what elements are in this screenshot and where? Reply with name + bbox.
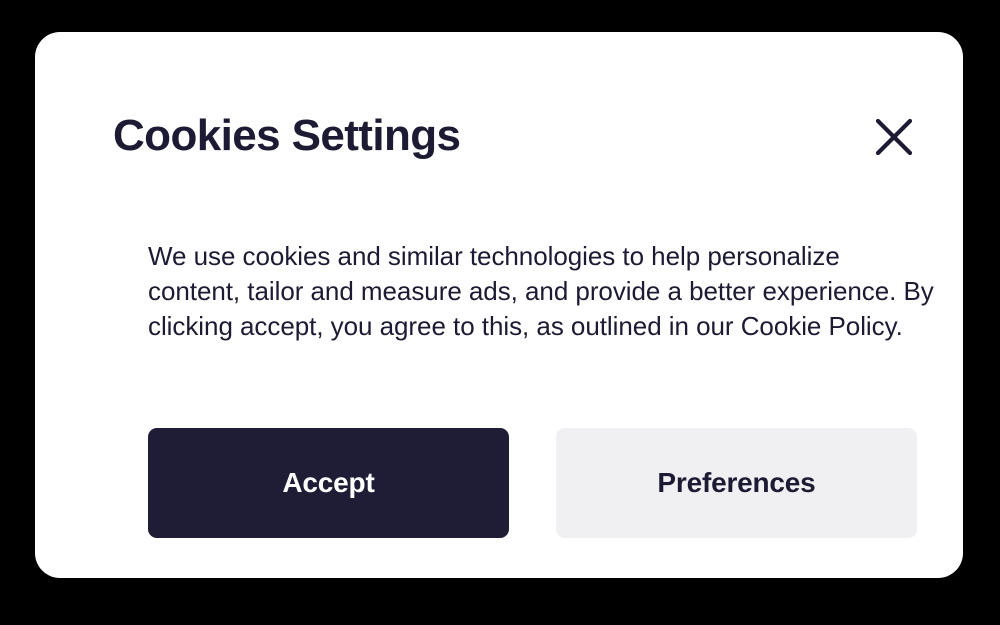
preferences-button[interactable]: Preferences <box>556 428 917 538</box>
dialog-header: Cookies Settings <box>113 104 963 190</box>
cookie-settings-dialog: Cookies Settings We use cookies and simi… <box>35 32 963 578</box>
accept-button[interactable]: Accept <box>148 428 509 538</box>
dialog-description: We use cookies and similar technologies … <box>148 239 938 344</box>
dialog-actions: Accept Preferences <box>148 428 920 538</box>
close-icon <box>874 117 914 157</box>
page-title: Cookies Settings <box>113 104 460 168</box>
page-background: Cookies Settings We use cookies and simi… <box>0 0 1000 625</box>
close-button[interactable] <box>870 113 918 161</box>
